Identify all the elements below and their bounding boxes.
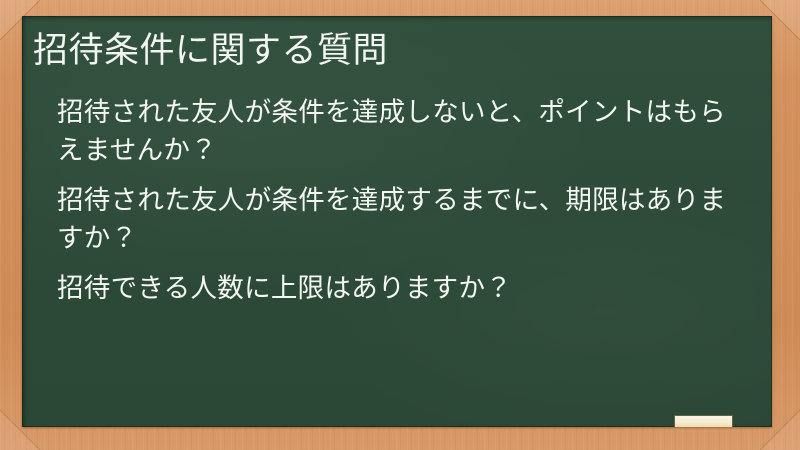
chalk-eraser-icon xyxy=(675,416,732,427)
list-item: 招待できる人数に上限はありますか？ xyxy=(57,270,742,308)
chalkboard-surface: 招待条件に関する質問 招待された友人が条件を達成しないと、ポイントはもらえません… xyxy=(22,16,772,427)
page-title: 招待条件に関する質問 xyxy=(33,30,752,74)
list-item: 招待された友人が条件を達成するまでに、期限はありますか？ xyxy=(57,182,742,258)
list-item: 招待された友人が条件を達成しないと、ポイントはもらえませんか？ xyxy=(57,94,742,170)
chalkboard-slide: 招待条件に関する質問 招待された友人が条件を達成しないと、ポイントはもらえません… xyxy=(0,0,800,450)
question-list: 招待された友人が条件を達成しないと、ポイントはもらえませんか？ 招待された友人が… xyxy=(57,94,742,308)
